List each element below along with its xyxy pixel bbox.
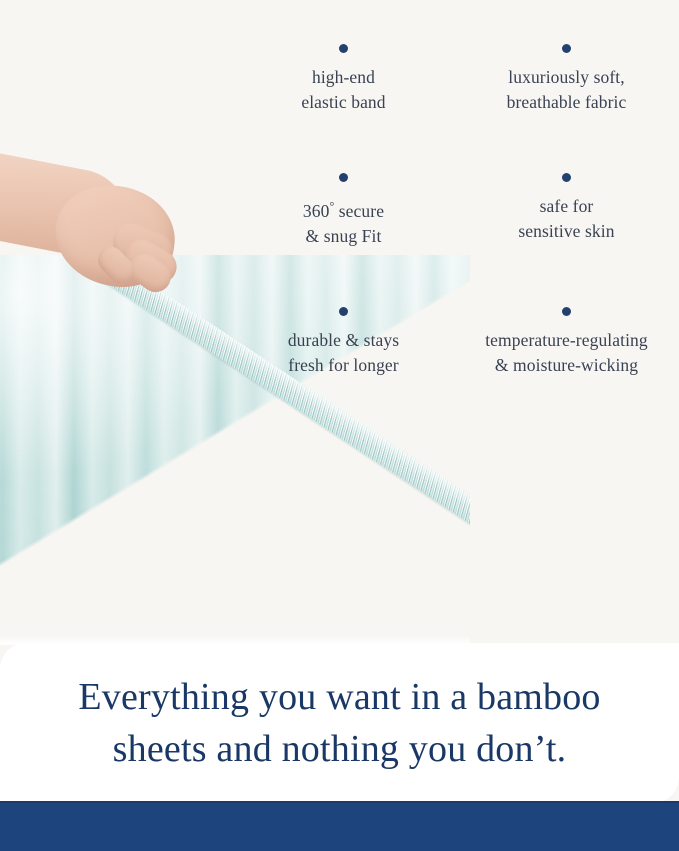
row-spacer	[232, 249, 679, 307]
bottom-navy-bar	[0, 801, 679, 851]
feature-soft-breathable: luxuriously soft, breathable fabric	[455, 44, 678, 115]
bullet-dot-icon	[339, 307, 348, 316]
feature-durable-fresh: durable & stays fresh for longer	[232, 307, 455, 378]
feature-line: safe for	[540, 196, 594, 216]
bullet-dot-icon	[339, 44, 348, 53]
feature-text: luxuriously soft, breathable fabric	[455, 65, 678, 115]
feature-text: high-end elastic band	[232, 65, 455, 115]
feature-row-2: 360° secure & snug Fit safe for sensitiv…	[232, 173, 679, 249]
feature-sensitive-skin: safe for sensitive skin	[455, 173, 678, 249]
headline-line-2: sheets and nothing you don’t.	[8, 723, 671, 775]
row-spacer	[232, 115, 679, 173]
feature-temperature-regulating: temperature-regulating & moisture-wickin…	[455, 307, 678, 378]
feature-line: durable & stays	[288, 330, 399, 350]
headline: Everything you want in a bamboo sheets a…	[0, 671, 679, 775]
feature-text: safe for sensitive skin	[455, 194, 678, 244]
feature-line: & moisture-wicking	[495, 355, 638, 375]
feature-list: high-end elastic band luxuriously soft, …	[232, 44, 679, 378]
feature-text: temperature-regulating & moisture-wickin…	[455, 328, 678, 378]
feature-360-snug-fit: 360° secure & snug Fit	[232, 173, 455, 249]
bullet-dot-icon	[562, 173, 571, 182]
feature-line: elastic band	[301, 92, 385, 112]
bullet-dot-icon	[339, 173, 348, 182]
feature-line: fresh for longer	[288, 355, 398, 375]
feature-text: 360° secure & snug Fit	[232, 194, 455, 249]
feature-text: durable & stays fresh for longer	[232, 328, 455, 378]
feature-line: high-end	[312, 67, 375, 87]
marketing-image: high-end elastic band luxuriously soft, …	[0, 0, 679, 849]
feature-degree-value: 360	[303, 201, 330, 221]
feature-line: & snug Fit	[306, 226, 382, 246]
feature-line: secure	[334, 201, 384, 221]
feature-elastic-band: high-end elastic band	[232, 44, 455, 115]
bullet-dot-icon	[562, 307, 571, 316]
headline-panel: Everything you want in a bamboo sheets a…	[0, 643, 679, 803]
feature-line: breathable fabric	[507, 92, 627, 112]
headline-line-1: Everything you want in a bamboo	[8, 671, 671, 723]
feature-line: sensitive skin	[518, 221, 614, 241]
feature-line: temperature-regulating	[485, 330, 648, 350]
feature-row-3: durable & stays fresh for longer tempera…	[232, 307, 679, 378]
feature-row-1: high-end elastic band luxuriously soft, …	[232, 44, 679, 115]
bullet-dot-icon	[562, 44, 571, 53]
feature-line: luxuriously soft,	[508, 67, 624, 87]
